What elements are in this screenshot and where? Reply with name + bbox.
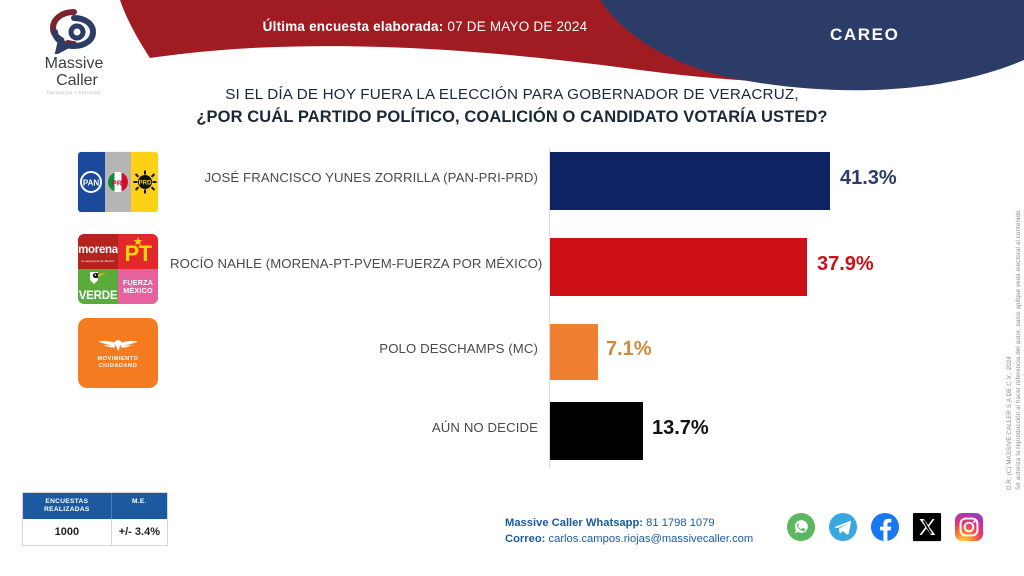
pan-segment: PAN bbox=[78, 152, 105, 212]
fuerza-label: FUERZA MÉXICO bbox=[123, 279, 153, 294]
massive-caller-logo-icon bbox=[48, 8, 100, 54]
stats-header-sample-l1: ENCUESTAS bbox=[45, 498, 88, 505]
chart-row-undecided: AÚN NO DECIDE 13.7% bbox=[0, 394, 1000, 472]
instagram-icon[interactable] bbox=[954, 512, 984, 542]
section-label-careo: CAREO bbox=[830, 25, 899, 45]
fuerza-line2: MÉXICO bbox=[123, 286, 153, 295]
bar-deschamps bbox=[550, 324, 598, 380]
bar-yunes bbox=[550, 152, 830, 210]
whatsapp-icon[interactable] bbox=[786, 512, 816, 542]
question-line-1: SI EL DÍA DE HOY FUERA LA ELECCIÓN PARA … bbox=[92, 84, 932, 106]
pri-segment: PRI bbox=[105, 152, 132, 212]
chart-row-yunes: PAN PRI bbox=[0, 140, 1000, 224]
facebook-icon[interactable] bbox=[870, 512, 900, 542]
svg-text:PRD: PRD bbox=[138, 181, 151, 187]
pvem-toucan-icon bbox=[87, 269, 109, 286]
party-logo-mc: MOVIMIENTO CIUDADANO bbox=[78, 318, 158, 388]
morena-label: morena bbox=[78, 244, 118, 256]
candidate-label-deschamps: POLO DESCHAMPS (MC) bbox=[170, 341, 538, 356]
mc-label: MOVIMIENTO CIUDADANO bbox=[98, 356, 139, 369]
poll-infographic: Última encuesta elaborada: 07 DE MAYO DE… bbox=[0, 0, 1024, 576]
survey-date-value: 07 DE MAYO DE 2024 bbox=[447, 19, 587, 34]
copyright-line-2: Se autoriza la reproducción al hacer ref… bbox=[1015, 209, 1022, 490]
candidate-label-yunes: JOSÉ FRANCISCO YUNES ZORRILLA (PAN-PRI-P… bbox=[170, 170, 538, 185]
bar-value-undecided: 13.7% bbox=[652, 417, 709, 440]
coalition-tile: PAN PRI bbox=[78, 152, 158, 212]
mc-line2: CIUDADANO bbox=[99, 363, 138, 369]
stats-value-margin: +/- 3.4% bbox=[111, 519, 167, 545]
svg-text:PAN: PAN bbox=[83, 179, 100, 188]
page-title: SI EL DÍA DE HOY FUERA LA ELECCIÓN PARA … bbox=[92, 84, 932, 128]
candidate-label-nahle: ROCÍO NAHLE (MORENA-PT-PVEM-FUERZA POR M… bbox=[170, 256, 538, 271]
header-navy-band bbox=[600, 0, 1024, 90]
question-line-2: ¿POR CUÁL PARTIDO POLÍTICO, COALICIÓN O … bbox=[92, 106, 932, 128]
x-twitter-icon[interactable] bbox=[912, 512, 942, 542]
pt-label: PT bbox=[124, 241, 151, 266]
party-logo-pan-pri-prd: PAN PRI bbox=[78, 152, 158, 212]
stats-value-row: 1000 +/- 3.4% bbox=[23, 519, 167, 545]
contact-email: Correo: carlos.campos.riojas@massivecall… bbox=[505, 531, 753, 547]
prd-icon: PRD bbox=[133, 170, 157, 194]
results-bar-chart: PAN PRI bbox=[0, 140, 1000, 480]
contact-whatsapp-value[interactable]: 81 1798 1079 bbox=[646, 517, 714, 529]
sample-stats-table: ENCUESTAS REALIZADAS M.E. 1000 +/- 3.4% bbox=[22, 492, 168, 546]
contact-info: Massive Caller Whatsapp: 81 1798 1079 Co… bbox=[505, 515, 753, 547]
prd-segment: PRD bbox=[131, 152, 158, 212]
telegram-icon[interactable] bbox=[828, 512, 858, 542]
bar-value-yunes: 41.3% bbox=[840, 167, 897, 190]
contact-email-value[interactable]: carlos.campos.riojas@massivecaller.com bbox=[549, 533, 754, 545]
fuerza-mexico-segment: FUERZA MÉXICO bbox=[118, 269, 158, 304]
brand-name-line1: Massive bbox=[45, 55, 104, 72]
chart-row-deschamps: MOVIMIENTO CIUDADANO POLO DESCHAMPS (MC)… bbox=[0, 316, 1000, 394]
pt-segment: PT bbox=[118, 234, 158, 269]
mc-tile: MOVIMIENTO CIUDADANO bbox=[78, 318, 158, 388]
bar-value-deschamps: 7.1% bbox=[606, 338, 652, 361]
mc-line1: MOVIMIENTO bbox=[98, 356, 139, 362]
social-links bbox=[786, 512, 984, 542]
contact-email-label: Correo: bbox=[505, 533, 545, 545]
coalition-tile: morena la esperanza de México PT bbox=[78, 234, 158, 304]
survey-date: Última encuesta elaborada: 07 DE MAYO DE… bbox=[250, 19, 600, 34]
bar-nahle bbox=[550, 238, 807, 296]
mc-eagle-icon bbox=[97, 337, 139, 354]
party-logo-morena-coalition: morena la esperanza de México PT bbox=[78, 234, 158, 304]
stats-header-row: ENCUESTAS REALIZADAS M.E. bbox=[23, 493, 167, 519]
verde-label: VERDE bbox=[79, 290, 118, 302]
bar-value-nahle: 37.9% bbox=[817, 253, 874, 276]
contact-whatsapp-label: Massive Caller Whatsapp: bbox=[505, 517, 643, 529]
morena-segment: morena la esperanza de México bbox=[78, 234, 118, 269]
copyright-line-1: D.R. (C) MASSIVE CALLER S.A DE C.V., 202… bbox=[1006, 356, 1013, 490]
brand-logo: Massive Caller ENCUESTAS Y ESTUDIOS bbox=[20, 8, 128, 95]
contact-whatsapp: Massive Caller Whatsapp: 81 1798 1079 bbox=[505, 515, 753, 531]
morena-sublabel: la esperanza de México bbox=[78, 259, 118, 263]
chart-row-nahle: morena la esperanza de México PT bbox=[0, 228, 1000, 312]
copyright-notice: D.R. (C) MASSIVE CALLER S.A DE C.V., 202… bbox=[992, 108, 1022, 508]
pri-icon: PRI bbox=[106, 170, 130, 194]
stats-header-sample-l2: REALIZADAS bbox=[44, 506, 90, 513]
stats-header-margin: M.E. bbox=[111, 493, 167, 519]
pvem-segment: VERDE bbox=[78, 269, 118, 304]
label-undecided: AÚN NO DECIDE bbox=[170, 420, 538, 435]
survey-date-label: Última encuesta elaborada: bbox=[263, 19, 444, 34]
stats-header-sample: ENCUESTAS REALIZADAS bbox=[23, 493, 111, 519]
svg-text:PRI: PRI bbox=[112, 179, 125, 188]
stats-value-sample: 1000 bbox=[23, 519, 111, 545]
pan-icon: PAN bbox=[79, 170, 103, 194]
bar-undecided bbox=[550, 402, 643, 460]
